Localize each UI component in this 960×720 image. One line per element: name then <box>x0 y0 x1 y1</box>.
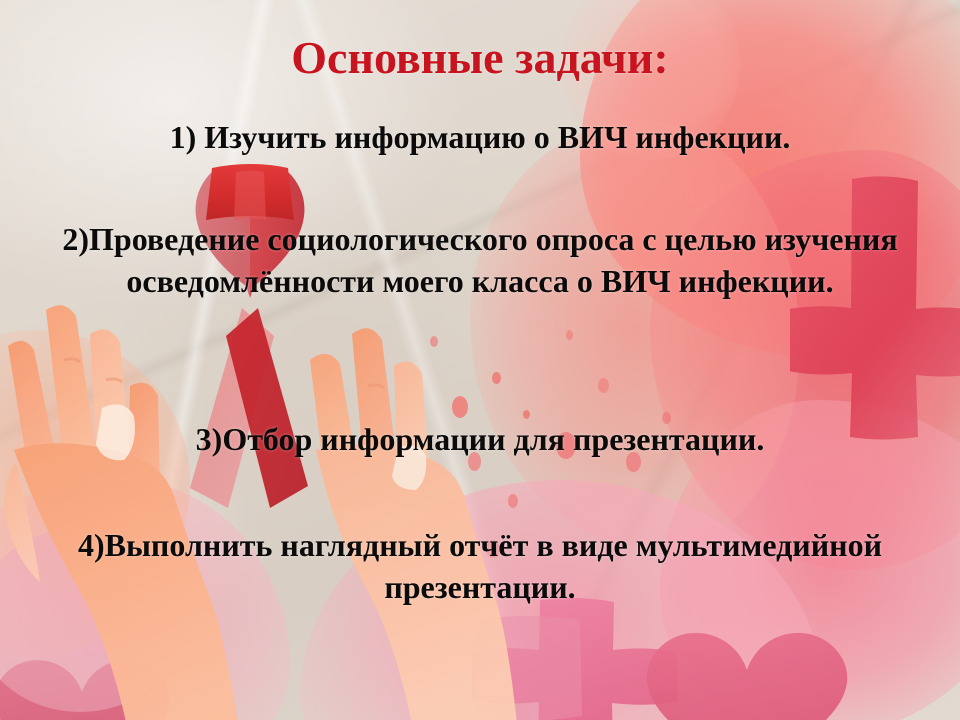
task-item-3: 3)Отбор информации для презентации. <box>46 418 914 460</box>
page-title: Основные задачи: <box>0 34 960 82</box>
task-item-4: 4)Выполнить наглядный отчёт в виде мульт… <box>46 524 914 608</box>
task-item-1: 1) Изучить информацию о ВИЧ инфекции. <box>46 116 914 158</box>
slide-canvas: Основные задачи: 1) Изучить информацию о… <box>0 0 960 720</box>
slide-text-content: Основные задачи: 1) Изучить информацию о… <box>0 0 960 720</box>
task-item-2: 2)Проведение социологического опроса с ц… <box>46 218 914 302</box>
